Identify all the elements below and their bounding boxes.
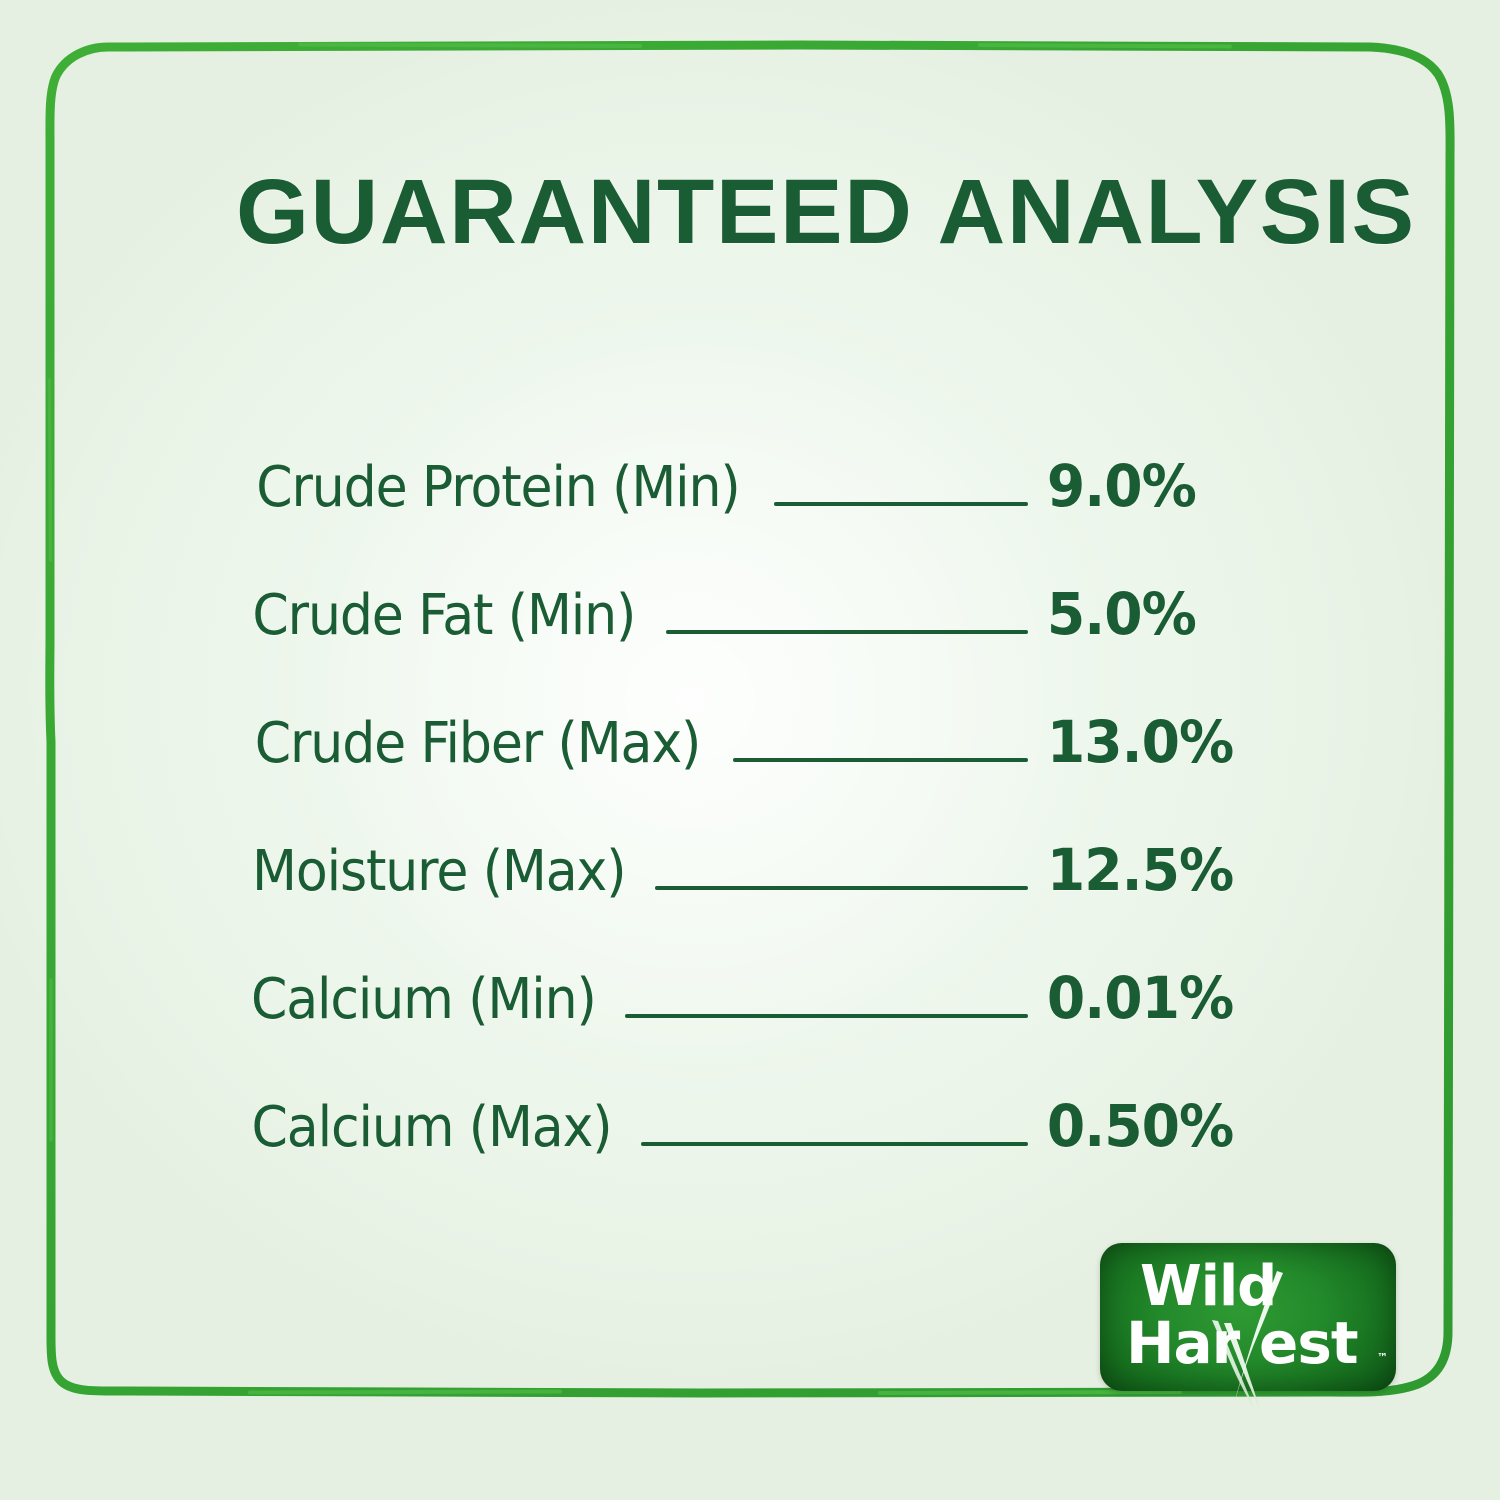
analysis-row: Crude Fiber (Max) 13.0% (238, 708, 1238, 836)
nutrient-label: Crude Protein (Min) (256, 455, 739, 520)
nutrient-value: 0.50% (1047, 1092, 1233, 1160)
leader-line (733, 761, 1028, 762)
analysis-row: Moisture (Max) 12.5% (238, 836, 1238, 964)
leader-line (666, 633, 1028, 634)
nutrient-label: Moisture (Max) (252, 839, 625, 904)
nutrient-value: 13.0% (1047, 708, 1233, 776)
leader-line (641, 1145, 1028, 1146)
logo-artwork: Wild Har est ™ (1092, 1237, 1412, 1417)
nutrient-label: Crude Fat (Min) (252, 583, 635, 648)
nutrient-label: Crude Fiber (Max) (255, 711, 700, 776)
logo-text-est: est (1259, 1309, 1358, 1377)
wild-harvest-logo: Wild Har est ™ (1100, 1243, 1396, 1391)
trademark-mark: ™ (1377, 1351, 1388, 1364)
nutrient-value: 5.0% (1047, 580, 1233, 648)
leader-line (655, 889, 1028, 890)
nutrient-label: Calcium (Max) (252, 1095, 612, 1160)
analysis-row: Crude Protein (Min) 9.0% (238, 452, 1238, 580)
page-title: GUARANTEED ANALYSIS (236, 166, 1416, 258)
nutrient-value: 12.5% (1047, 836, 1233, 904)
analysis-row: Crude Fat (Min) 5.0% (238, 580, 1238, 708)
analysis-list: Crude Protein (Min) 9.0% Crude Fat (Min)… (238, 452, 1238, 1220)
leader-line (774, 505, 1028, 506)
nutrient-label: Calcium (Min) (251, 967, 596, 1032)
nutrient-value: 9.0% (1047, 452, 1233, 520)
guaranteed-analysis-panel: GUARANTEED ANALYSIS Crude Protein (Min) … (0, 0, 1500, 1500)
leader-line (625, 1017, 1028, 1018)
analysis-row: Calcium (Min) 0.01% (238, 964, 1238, 1092)
nutrient-value: 0.01% (1047, 964, 1233, 1032)
analysis-row: Calcium (Max) 0.50% (238, 1092, 1238, 1220)
